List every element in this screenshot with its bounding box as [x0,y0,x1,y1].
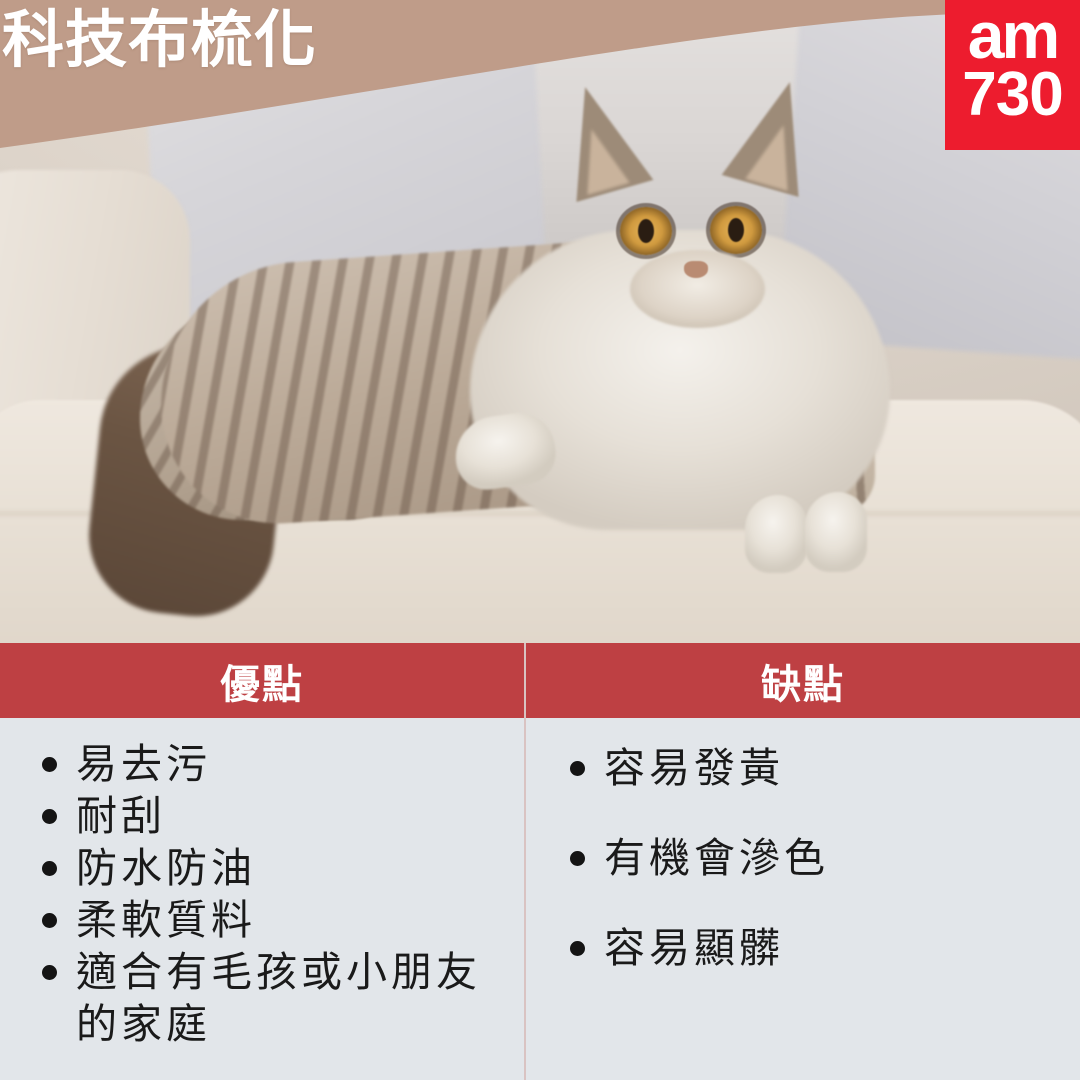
column-pros: 易去污 耐刮 防水防油 柔軟質料 適合有毛孩或小朋友的家庭 [0,718,524,1080]
cat-paw-front-right-outer [805,492,867,572]
list-item: 容易發黃 [556,742,1070,794]
page-title: 科技布梳化 [0,8,622,73]
list-item: 耐刮 [28,790,514,842]
list-item: 柔軟質料 [28,894,514,946]
am730-logo[interactable]: am 730 [945,0,1080,150]
cat-nose [684,261,708,278]
cat-paw-front-right-inner [745,495,807,573]
pros-cons-table: 優點 缺點 易去污 耐刮 防水防油 柔軟質料 適合有毛孩或小朋友的家庭 容易發黃… [0,643,1080,1080]
column-header-pros: 優點 [0,643,524,718]
list-item: 易去污 [28,738,514,790]
cons-list: 容易發黃 有機會滲色 容易顯髒 [556,742,1070,974]
list-item: 容易顯髒 [556,922,1070,974]
infographic-canvas: 科技布梳化 am 730 優點 缺點 易去污 耐刮 防水防油 柔軟質料 適合有毛… [0,0,1080,1080]
logo-text-730: 730 [945,64,1080,126]
column-cons: 容易發黃 有機會滲色 容易顯髒 [526,718,1080,1080]
list-item: 防水防油 [28,842,514,894]
cat-pupil-left [638,219,654,243]
cat-pupil-right [728,218,744,242]
list-item: 適合有毛孩或小朋友的家庭 [28,946,514,1050]
table-header-row: 優點 缺點 [0,643,1080,718]
table-body: 易去污 耐刮 防水防油 柔軟質料 適合有毛孩或小朋友的家庭 容易發黃 有機會滲色… [0,718,1080,1080]
pros-list: 易去污 耐刮 防水防油 柔軟質料 適合有毛孩或小朋友的家庭 [28,738,514,1050]
list-item: 有機會滲色 [556,832,1070,884]
column-divider [524,643,526,1080]
column-header-cons: 缺點 [526,643,1080,718]
logo-text-am: am [945,2,1080,68]
